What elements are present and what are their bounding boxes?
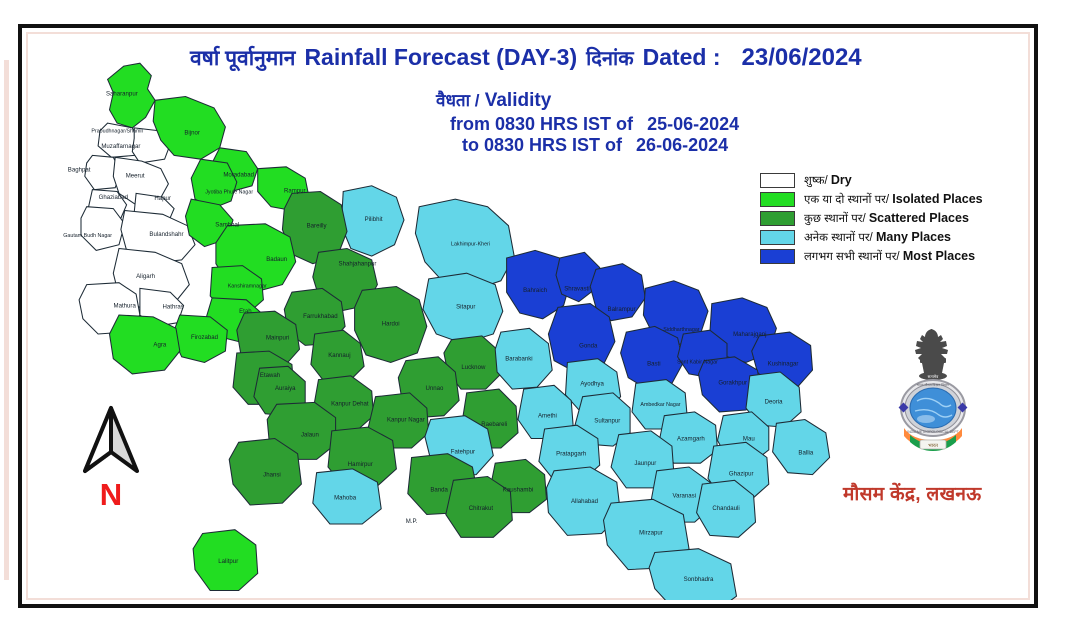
title-english: Rainfall Forecast (DAY-3): [304, 44, 577, 71]
legend-row: अनेक स्थानों पर/ Many Places: [760, 228, 983, 246]
legend-swatch: [760, 249, 795, 264]
imd-emblem-icon: सत्यमेव भारत मौसम विज्ञान विभाग INDIA ME…: [884, 327, 982, 461]
validity-to-label: to 0830 HRS IST of: [462, 135, 622, 155]
north-arrow: N: [72, 405, 150, 517]
legend-label-hindi: कुछ स्थानों पर/: [804, 213, 869, 225]
legend-label-english: Most Places: [903, 249, 975, 263]
legend-row: शुष्क/ Dry: [760, 171, 983, 189]
district-basti[interactable]: [621, 326, 684, 389]
page-left-accent-bar: [4, 60, 9, 580]
validity-from-label: from 0830 HRS IST of: [450, 114, 633, 134]
legend-label: कुछ स्थानों पर/ Scattered Places: [804, 211, 969, 226]
validity-to: to 0830 HRS IST of 26-06-2024: [462, 135, 739, 156]
validity-label-english: Validity: [485, 90, 552, 111]
district-jhansi[interactable]: [229, 439, 301, 506]
svg-text:INDIA METEOROLOGICAL DEPT: INDIA METEOROLOGICAL DEPT: [907, 430, 959, 434]
district-hardoi[interactable]: [355, 287, 427, 363]
legend-label-hindi: एक या दो स्थानों पर/: [804, 194, 892, 206]
district-barabanki[interactable]: [495, 328, 552, 389]
title-hindi: वर्षा पूर्वानुमान: [190, 44, 295, 72]
issuing-office-credit: मौसम केंद्र, लखनऊ: [843, 480, 982, 506]
district-lalitpur[interactable]: [193, 530, 258, 591]
legend-label-hindi: अनेक स्थानों पर/: [804, 232, 876, 244]
legend-row: एक या दो स्थानों पर/ Isolated Places: [760, 190, 983, 208]
dated-english: Dated :: [643, 44, 721, 71]
north-arrow-icon: [72, 405, 150, 477]
neighbour-state-label: M.P.: [406, 518, 418, 525]
svg-text:भारत: भारत: [928, 443, 938, 449]
legend-label: शुष्क/ Dry: [804, 173, 852, 188]
legend-label-english: Isolated Places: [892, 192, 982, 206]
district-kannauj[interactable]: [311, 330, 364, 381]
district-pilibhit[interactable]: [341, 186, 404, 256]
issue-date: 23/06/2024: [742, 44, 862, 72]
legend-label: लगभग सभी स्थानों पर/ Most Places: [804, 249, 975, 264]
page-left-margin: [0, 0, 18, 634]
validity-from-date: 25-06-2024: [647, 114, 739, 134]
validity-to-date: 26-06-2024: [636, 135, 728, 155]
legend-swatch: [760, 230, 795, 245]
legend-label-english: Dry: [831, 173, 852, 187]
legend-label-hindi: लगभग सभी स्थानों पर/: [804, 251, 903, 263]
district-sonbhadra[interactable]: [649, 549, 736, 600]
legend-label: एक या दो स्थानों पर/ Isolated Places: [804, 192, 983, 207]
validity-label-hindi: वैधता /: [436, 91, 479, 110]
legend-label-english: Scattered Places: [869, 211, 969, 225]
legend-label-hindi: शुष्क/: [804, 175, 831, 187]
district-ballia[interactable]: [773, 420, 830, 475]
validity-block: वैधता / Validity from 0830 HRS IST of 25…: [436, 88, 739, 156]
svg-text:सत्यमेव: सत्यमेव: [928, 374, 940, 379]
legend-swatch: [760, 211, 795, 226]
page-title: वर्षा पूर्वानुमान Rainfall Forecast (DAY…: [190, 44, 862, 72]
district-sitapur[interactable]: [423, 273, 503, 343]
legend-swatch: [760, 192, 795, 207]
forecast-map-page: SaharanpurPrabudhnagar/ShamliMuzaffarnag…: [0, 0, 1065, 634]
district-saharanpur[interactable]: [108, 63, 156, 128]
legend-label-english: Many Places: [876, 230, 951, 244]
north-letter: N: [72, 477, 150, 513]
rainfall-legend: शुष्क/ Dryएक या दो स्थानों पर/ Isolated …: [760, 171, 983, 266]
legend-row: लगभग सभी स्थानों पर/ Most Places: [760, 247, 983, 265]
legend-row: कुछ स्थानों पर/ Scattered Places: [760, 209, 983, 227]
legend-swatch: [760, 173, 795, 188]
dated-hindi: दिनांक: [586, 44, 633, 71]
legend-label: अनेक स्थानों पर/ Many Places: [804, 230, 951, 245]
imd-emblem-logo: सत्यमेव भारत मौसम विज्ञान विभाग INDIA ME…: [884, 327, 982, 461]
svg-text:भारत मौसम विज्ञान विभाग: भारत मौसम विज्ञान विभाग: [917, 382, 949, 387]
validity-heading: वैधता / Validity: [436, 88, 739, 112]
validity-from: from 0830 HRS IST of 25-06-2024: [450, 114, 739, 135]
